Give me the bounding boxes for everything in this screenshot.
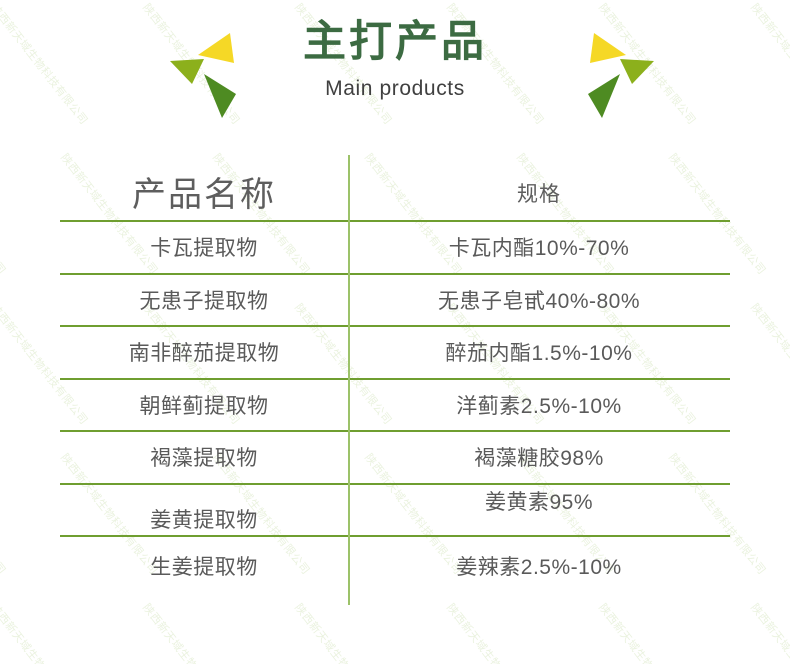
page-title: 主打产品 (0, 18, 790, 67)
title-block: 主打产品 Main products (0, 18, 790, 101)
table-row: 卡瓦提取物 卡瓦内酯10%-70% (60, 222, 730, 275)
column-header-product-name: 产品名称 (60, 167, 348, 220)
table-row: 生姜提取物 姜辣素2.5%-10% (60, 537, 730, 595)
cell-specification: 洋蓟素2.5%-10% (348, 390, 730, 420)
cell-product-name: 生姜提取物 (60, 551, 348, 581)
column-header-specification-label: 规格 (517, 183, 561, 206)
column-header-specification: 规格 (348, 178, 730, 220)
cell-product-name: 朝鲜蓟提取物 (60, 390, 348, 420)
table-row: 无患子提取物 无患子皂甙40%-80% (60, 275, 730, 328)
cell-specification: 卡瓦内酯10%-70% (348, 232, 730, 262)
table-header-row: 产品名称 规格 (60, 150, 730, 222)
table-row: 褐藻提取物 褐藻糖胶98% (60, 432, 730, 485)
cell-product-name: 姜黄提取物 (60, 504, 348, 534)
page-root: 主打产品 Main products 产品名称 规格 卡瓦提取物 卡瓦内酯10%… (0, 0, 790, 664)
cell-product-name: 无患子提取物 (60, 285, 348, 315)
page-subtitle: Main products (0, 77, 790, 101)
cell-specification: 褐藻糖胶98% (348, 442, 730, 472)
table-row: 姜黄提取物 姜黄素95% (60, 485, 730, 538)
table-row: 南非醉茄提取物 醉茄内酯1.5%-10% (60, 327, 730, 380)
cell-specification: 无患子皂甙40%-80% (348, 285, 730, 315)
table-row: 朝鲜蓟提取物 洋蓟素2.5%-10% (60, 380, 730, 433)
column-header-product-name-label: 产品名称 (132, 176, 276, 214)
cell-product-name: 卡瓦提取物 (60, 232, 348, 262)
cell-specification: 姜黄素95% (348, 486, 730, 516)
product-table: 产品名称 规格 卡瓦提取物 卡瓦内酯10%-70% 无患子提取物 无患子皂甙40… (60, 150, 730, 595)
cell-specification: 姜辣素2.5%-10% (348, 551, 730, 581)
column-divider (348, 155, 350, 605)
cell-product-name: 褐藻提取物 (60, 442, 348, 472)
cell-product-name: 南非醉茄提取物 (60, 337, 348, 367)
cell-specification: 醉茄内酯1.5%-10% (348, 337, 730, 367)
page-header: 主打产品 Main products (0, 0, 790, 140)
